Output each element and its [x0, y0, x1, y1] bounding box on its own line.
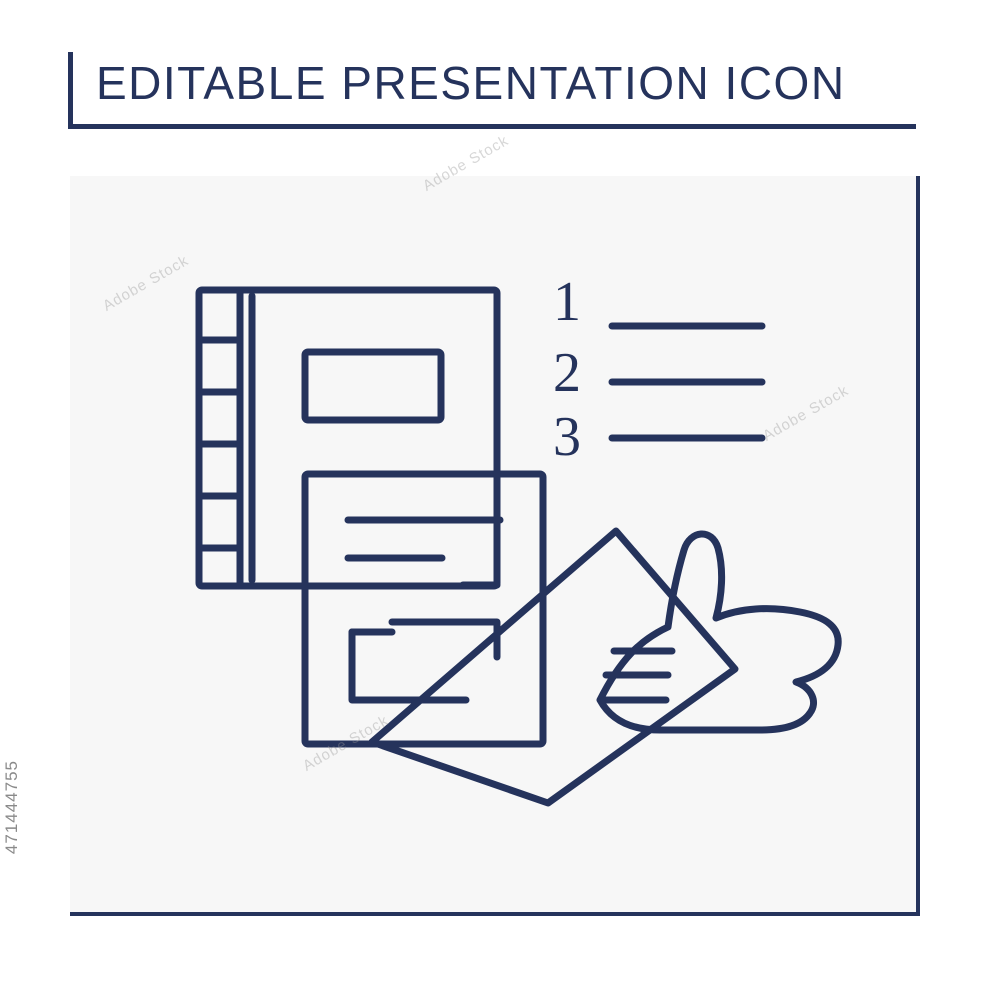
- title-left-rule: [68, 52, 73, 128]
- page-title: EDITABLE PRESENTATION ICON: [96, 56, 846, 110]
- title-block: EDITABLE PRESENTATION ICON: [68, 52, 916, 130]
- image-canvas: EDITABLE PRESENTATION ICON: [0, 0, 1000, 1000]
- stock-id-watermark: 471444755: [2, 760, 32, 854]
- title-bottom-rule: [68, 124, 916, 129]
- panel-bottom-rule: [70, 912, 920, 916]
- illustration-panel: [70, 176, 920, 916]
- panel-right-rule: [916, 176, 920, 916]
